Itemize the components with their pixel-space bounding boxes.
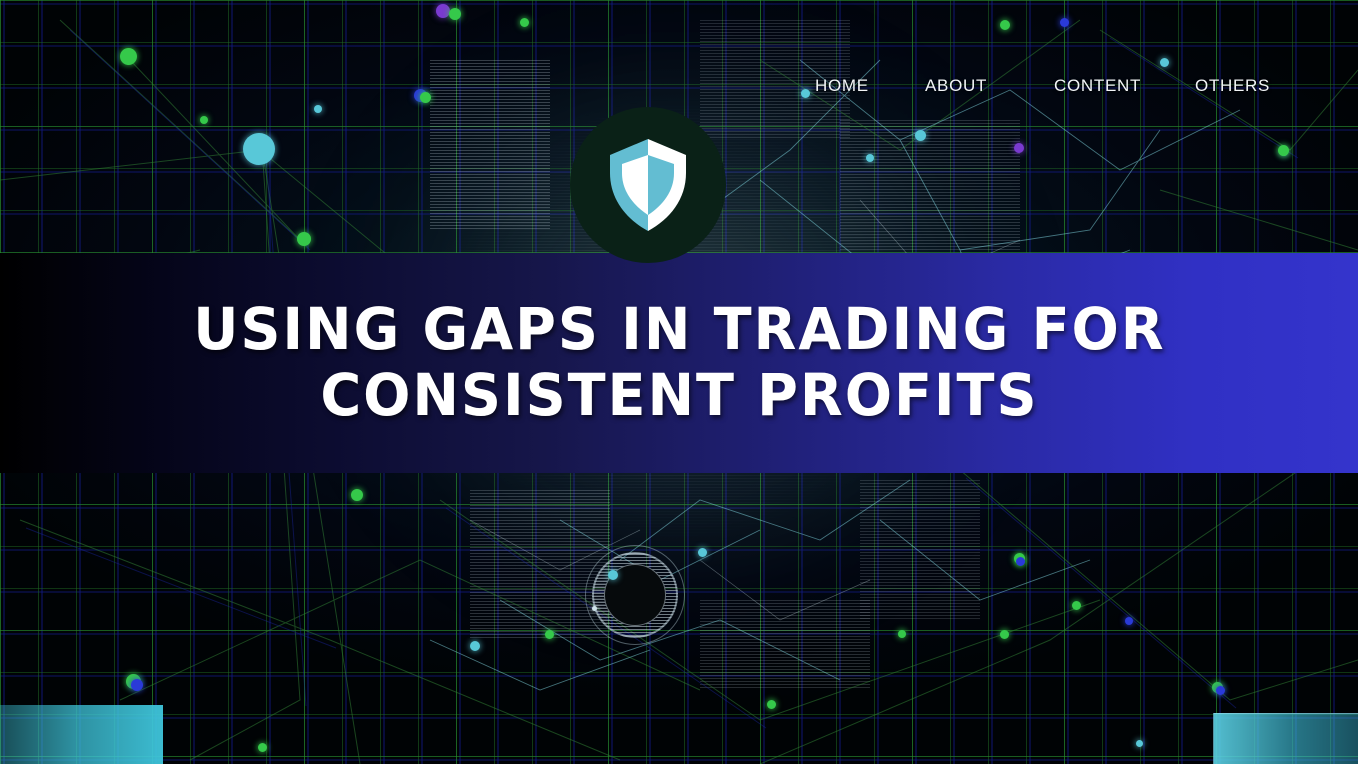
glow-node <box>1016 557 1025 566</box>
glow-node <box>243 133 275 165</box>
glow-node <box>131 679 143 691</box>
glow-node <box>1160 58 1169 67</box>
glow-node <box>915 130 926 141</box>
glow-node <box>1216 686 1225 695</box>
glow-node <box>1000 630 1009 639</box>
hud-ring-core <box>613 573 657 617</box>
glow-node <box>200 116 208 124</box>
page-title-line-1: USING GAPS IN TRADING FOR <box>193 300 1165 358</box>
glow-node <box>520 18 529 27</box>
glow-node <box>297 232 311 246</box>
glow-node <box>698 548 707 557</box>
glow-node <box>1136 740 1143 747</box>
glow-node <box>767 700 776 709</box>
glow-node <box>1278 145 1289 156</box>
glow-node <box>449 8 461 20</box>
nav-item-about[interactable]: ABOUT <box>925 76 987 96</box>
nav-item-content[interactable]: CONTENT <box>1054 76 1141 96</box>
hud-ring-decoration <box>592 552 678 638</box>
nav-item-home[interactable]: HOME <box>815 76 869 96</box>
glow-node <box>1125 617 1133 625</box>
nav-item-others[interactable]: OTHERS <box>1195 76 1270 96</box>
cyan-accent-block-right <box>1213 713 1358 764</box>
main-navigation: HOME ABOUT CONTENT OTHERS <box>0 76 1358 108</box>
shield-icon <box>606 137 690 233</box>
glow-node <box>258 743 267 752</box>
page-title-line-2: CONSISTENT PROFITS <box>193 366 1165 424</box>
glow-node <box>592 606 597 611</box>
glow-node <box>1060 18 1069 27</box>
glow-node <box>1014 143 1024 153</box>
hero-banner-page: HOME ABOUT CONTENT OTHERS USING GAPS IN … <box>0 0 1358 764</box>
page-title: USING GAPS IN TRADING FOR CONSISTENT PRO… <box>193 300 1165 426</box>
glow-node <box>898 630 906 638</box>
glow-node <box>351 489 363 501</box>
glow-node <box>1072 601 1081 610</box>
site-logo[interactable] <box>570 107 726 263</box>
cyan-accent-block-left <box>0 705 163 764</box>
glow-node <box>866 154 874 162</box>
glow-node <box>1000 20 1010 30</box>
glow-node <box>608 570 618 580</box>
hero-banner: USING GAPS IN TRADING FOR CONSISTENT PRO… <box>0 253 1358 473</box>
glow-node <box>545 630 554 639</box>
glow-node <box>436 4 450 18</box>
glow-node <box>470 641 480 651</box>
glow-node <box>120 48 137 65</box>
